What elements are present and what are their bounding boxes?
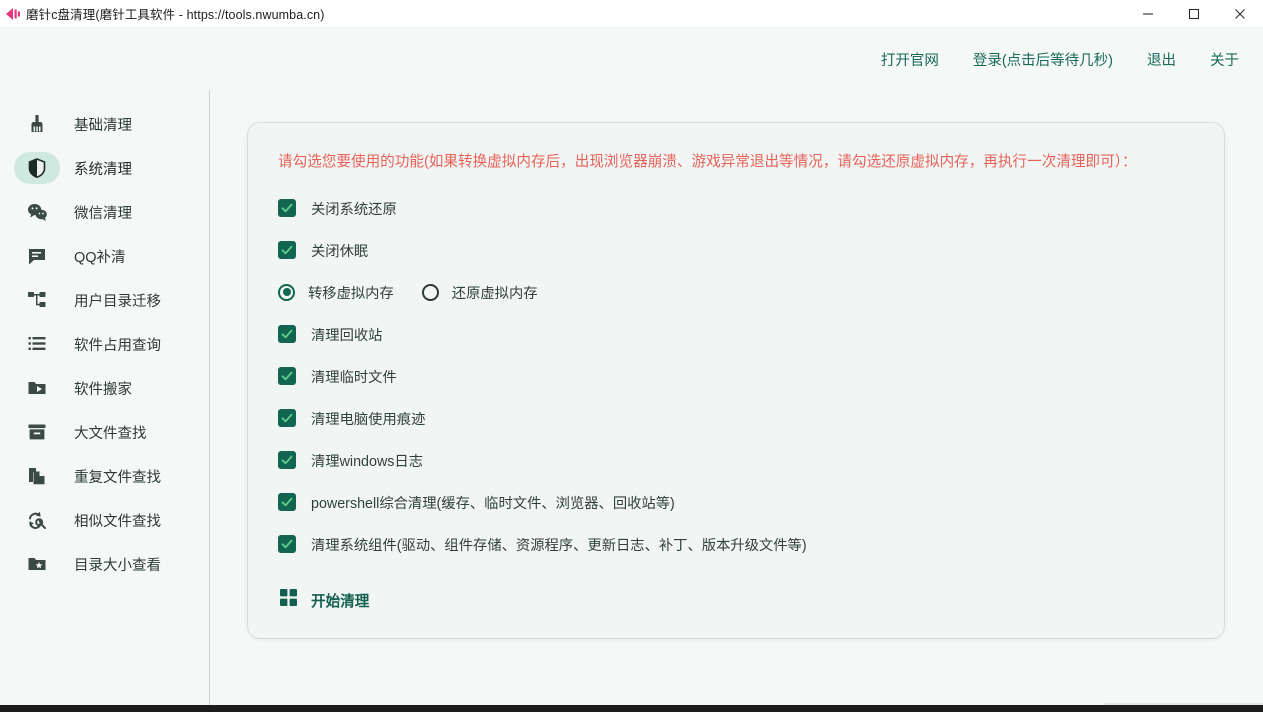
checkbox-icon[interactable] [278, 535, 296, 553]
sidebar-item-dir-size-view[interactable]: 目录大小查看 [0, 542, 209, 586]
sidebar-item-user-dir-migration[interactable]: 用户目录迁移 [0, 278, 209, 322]
sidebar-item-wechat-clean[interactable]: 微信清理 [0, 190, 209, 234]
sidebar-item-duplicate-file-search[interactable]: 重复文件查找 [0, 454, 209, 498]
title-bar: 磨针c盘清理(磨针工具软件 - https://tools.nwumba.cn) [0, 0, 1263, 28]
radio-move-virtual-memory[interactable]: 转移虚拟内存 [278, 282, 394, 303]
sidebar-item-software-move[interactable]: 软件搬家 [0, 366, 209, 410]
folder-arrow-icon [14, 372, 60, 404]
window-controls [1125, 0, 1263, 28]
checkbox-icon[interactable] [278, 493, 296, 511]
option-label: 关闭系统还原 [311, 198, 397, 219]
option-row-clean-usage-traces[interactable]: 清理电脑使用痕迹 [262, 397, 1198, 439]
option-label: 清理系统组件(驱动、组件存储、资源程序、更新日志、补丁、版本升级文件等) [311, 534, 807, 555]
sidebar-item-label: QQ补清 [74, 246, 126, 267]
checkbox-icon[interactable] [278, 367, 296, 385]
sidebar-item-qq-clean[interactable]: QQ补清 [0, 234, 209, 278]
sidebar-item-label: 系统清理 [74, 158, 132, 179]
folder-star-icon [14, 548, 60, 580]
radio-label: 转移虚拟内存 [308, 282, 394, 303]
checkbox-icon[interactable] [278, 325, 296, 343]
sidebar-item-system-clean[interactable]: 系统清理 [0, 146, 209, 190]
checkbox-icon[interactable] [278, 241, 296, 259]
sync-search-icon [14, 504, 60, 536]
sidebar-item-label: 软件搬家 [74, 378, 132, 399]
main-content: 请勾选您要使用的功能(如果转换虚拟内存后，出现浏览器崩溃、游戏异常退出等情况，请… [210, 90, 1263, 705]
close-icon[interactable] [1217, 0, 1263, 28]
copy-file-icon [14, 460, 60, 492]
broom-icon [14, 108, 60, 140]
option-label: 清理电脑使用痕迹 [311, 408, 425, 429]
radio-selected-icon[interactable] [278, 284, 295, 301]
sidebar-item-label: 基础清理 [74, 114, 132, 135]
sidebar-item-label: 相似文件查找 [74, 510, 161, 531]
app-body: 基础清理 系统清理 [0, 90, 1263, 705]
radio-unselected-icon[interactable] [422, 284, 439, 301]
topnav-link-open-website[interactable]: 打开官网 [881, 49, 939, 70]
sidebar-item-basic-clean[interactable]: 基础清理 [0, 102, 209, 146]
back-arrow-icon [0, 0, 26, 28]
start-clean-label: 开始清理 [311, 590, 369, 611]
topnav-link-about[interactable]: 关于 [1210, 49, 1239, 70]
topnav-link-logout[interactable]: 退出 [1147, 49, 1176, 70]
sidebar-item-label: 大文件查找 [74, 422, 147, 443]
grid-icon [280, 589, 297, 611]
checkbox-icon[interactable] [278, 409, 296, 427]
option-label: 清理临时文件 [311, 366, 397, 387]
option-row-virtual-memory: 转移虚拟内存 还原虚拟内存 [262, 271, 1198, 313]
notice-text: 请勾选您要使用的功能(如果转换虚拟内存后，出现浏览器崩溃、游戏异常退出等情况，请… [262, 149, 1198, 175]
shield-icon [14, 152, 60, 184]
chat-bubble-icon [14, 240, 60, 272]
option-row-clean-recycle-bin[interactable]: 清理回收站 [262, 313, 1198, 355]
maximize-icon[interactable] [1171, 0, 1217, 28]
option-label: 关闭休眠 [311, 240, 368, 261]
minimize-icon[interactable] [1125, 0, 1171, 28]
option-label: 清理windows日志 [311, 450, 423, 471]
sidebar-item-label: 重复文件查找 [74, 466, 161, 487]
option-row-powershell-clean[interactable]: powershell综合清理(缓存、临时文件、浏览器、回收站等) [262, 481, 1198, 523]
option-row-disable-hibernate[interactable]: 关闭休眠 [262, 229, 1198, 271]
sitemap-icon [14, 284, 60, 316]
checkbox-icon[interactable] [278, 451, 296, 469]
start-clean-button[interactable]: 开始清理 [262, 589, 369, 611]
radio-group-virtual-memory: 转移虚拟内存 还原虚拟内存 [278, 282, 538, 303]
sidebar-item-software-usage-query[interactable]: 软件占用查询 [0, 322, 209, 366]
sidebar-item-large-file-search[interactable]: 大文件查找 [0, 410, 209, 454]
wechat-icon [14, 196, 60, 228]
sidebar-item-label: 微信清理 [74, 202, 132, 223]
sidebar-item-similar-file-search[interactable]: 相似文件查找 [0, 498, 209, 542]
archive-box-icon [14, 416, 60, 448]
option-row-clean-system-components[interactable]: 清理系统组件(驱动、组件存储、资源程序、更新日志、补丁、版本升级文件等) [262, 523, 1198, 565]
sidebar-item-label: 用户目录迁移 [74, 290, 161, 311]
radio-label: 还原虚拟内存 [452, 282, 538, 303]
options-card: 请勾选您要使用的功能(如果转换虚拟内存后，出现浏览器崩溃、游戏异常退出等情况，请… [248, 123, 1224, 638]
sidebar-item-label: 软件占用查询 [74, 334, 161, 355]
checkbox-icon[interactable] [278, 199, 296, 217]
option-label: 清理回收站 [311, 324, 382, 345]
sidebar: 基础清理 系统清理 [0, 90, 210, 705]
option-row-close-system-restore[interactable]: 关闭系统还原 [262, 187, 1198, 229]
sidebar-item-label: 目录大小查看 [74, 554, 161, 575]
taskbar-strip [0, 705, 1263, 712]
radio-restore-virtual-memory[interactable]: 还原虚拟内存 [422, 282, 538, 303]
option-label: powershell综合清理(缓存、临时文件、浏览器、回收站等) [311, 492, 675, 513]
topnav-link-login[interactable]: 登录(点击后等待几秒) [973, 49, 1113, 70]
option-row-clean-temp-files[interactable]: 清理临时文件 [262, 355, 1198, 397]
list-icon [14, 328, 60, 360]
option-row-clean-windows-logs[interactable]: 清理windows日志 [262, 439, 1198, 481]
window-title: 磨针c盘清理(磨针工具软件 - https://tools.nwumba.cn) [26, 4, 325, 23]
top-nav: 打开官网 登录(点击后等待几秒) 退出 关于 [0, 28, 1263, 90]
